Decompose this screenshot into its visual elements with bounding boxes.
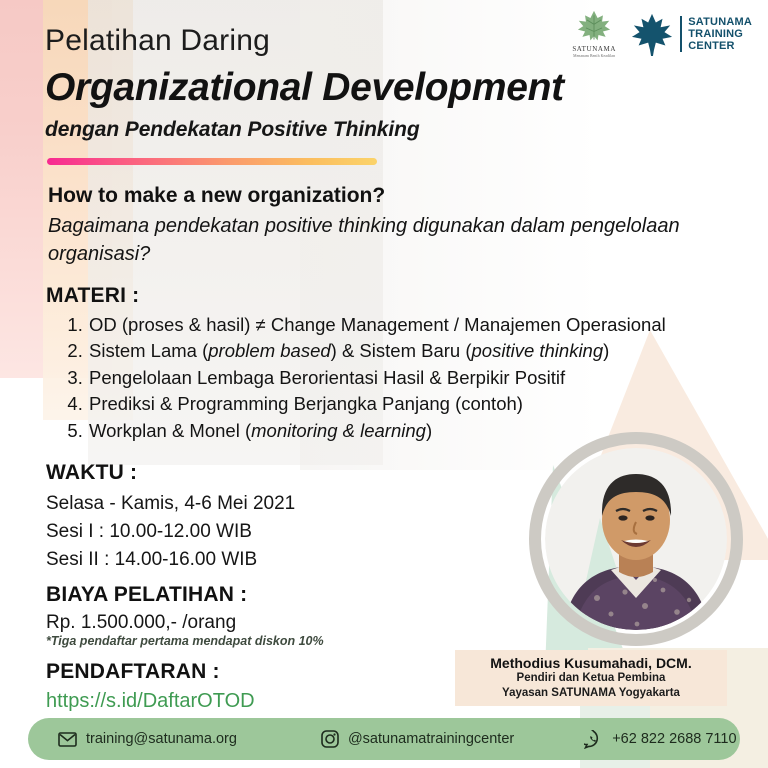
maple-leaf-icon bbox=[576, 10, 612, 44]
poster-root: SATUNAMA Menanam Benih Keadilan SATUNAMA… bbox=[0, 0, 768, 768]
maple-leaf-solid-icon bbox=[630, 12, 674, 56]
kicker-text: Pelatihan Daring bbox=[45, 24, 270, 58]
speaker-role-1: Pendiri dan Ketua Pembina bbox=[517, 671, 666, 686]
satunama-logo: SATUNAMA Menanam Benih Keadilan bbox=[572, 10, 616, 58]
footer-whatsapp-item[interactable]: +62 822 2688 7110 bbox=[584, 730, 736, 749]
envelope-icon bbox=[58, 732, 77, 747]
materi-heading: MATERI : bbox=[46, 284, 139, 308]
question-indonesian: Bagaimana pendekatan positive thinking d… bbox=[48, 212, 688, 269]
materi-list-item: Pengelolaan Lembaga Berorientasi Hasil &… bbox=[88, 365, 666, 391]
logo-group: SATUNAMA Menanam Benih Keadilan SATUNAMA… bbox=[572, 10, 752, 58]
whatsapp-icon bbox=[584, 730, 603, 749]
materi-list-item: Sistem Lama (problem based) & Sistem Bar… bbox=[88, 338, 666, 364]
speaker-name-card: Methodius Kusumahadi, DCM. Pendiri dan K… bbox=[455, 650, 727, 706]
materi-list-item: Workplan & Monel (monitoring & learning) bbox=[88, 418, 666, 444]
footer-email-item[interactable]: training@satunama.org bbox=[58, 731, 237, 747]
training-center-logo-text: SATUNAMA TRAINING CENTER bbox=[680, 16, 752, 53]
satunama-logo-tagline: Menanam Benih Keadilan bbox=[573, 53, 615, 58]
stc-line3: CENTER bbox=[688, 40, 752, 52]
waktu-heading: WAKTU : bbox=[46, 461, 137, 485]
biaya-amount: Rp. 1.500.000,- /orang bbox=[46, 612, 236, 634]
satunama-logo-name: SATUNAMA bbox=[572, 45, 616, 53]
footer-instagram-item[interactable]: @satunamatrainingcenter bbox=[321, 730, 514, 748]
speaker-portrait-illustration bbox=[545, 448, 727, 630]
speaker-photo bbox=[545, 448, 727, 630]
pendaftaran-heading: PENDAFTARAN : bbox=[46, 660, 220, 684]
materi-list-item: Prediksi & Programming Berjangka Panjang… bbox=[88, 391, 666, 417]
waktu-block: Selasa - Kamis, 4-6 Mei 2021 Sesi I : 10… bbox=[46, 490, 295, 574]
instagram-icon bbox=[321, 730, 339, 748]
materi-list: OD (proses & hasil) ≠ Change Management … bbox=[60, 312, 666, 444]
speaker-name: Methodius Kusumahadi, DCM. bbox=[490, 655, 691, 671]
contact-footer: training@satunama.org @satunamatrainingc… bbox=[28, 718, 740, 760]
speaker-role-2: Yayasan SATUNAMA Yogyakarta bbox=[502, 686, 680, 701]
biaya-note: *Tiga pendaftar pertama mendapat diskon … bbox=[46, 634, 324, 648]
stc-line2: TRAINING bbox=[688, 28, 752, 40]
stc-line1: SATUNAMA bbox=[688, 16, 752, 28]
page-title: Organizational Development bbox=[45, 66, 564, 110]
waktu-date: Selasa - Kamis, 4-6 Mei 2021 bbox=[46, 490, 295, 518]
materi-list-item: OD (proses & hasil) ≠ Change Management … bbox=[88, 312, 666, 338]
page-subtitle: dengan Pendekatan Positive Thinking bbox=[45, 118, 420, 142]
footer-instagram-text: @satunamatrainingcenter bbox=[348, 731, 514, 747]
biaya-heading: BIAYA PELATIHAN : bbox=[46, 583, 247, 607]
waktu-sesi2: Sesi II : 14.00-16.00 WIB bbox=[46, 546, 295, 574]
footer-email-text: training@satunama.org bbox=[86, 731, 237, 747]
footer-whatsapp-text: +62 822 2688 7110 bbox=[612, 731, 736, 747]
gradient-divider bbox=[47, 158, 377, 165]
question-english: How to make a new organization? bbox=[48, 184, 385, 208]
waktu-sesi1: Sesi I : 10.00-12.00 WIB bbox=[46, 518, 295, 546]
training-center-logo: SATUNAMA TRAINING CENTER bbox=[630, 12, 752, 56]
registration-link[interactable]: https://s.id/DaftarOTOD bbox=[46, 690, 255, 713]
